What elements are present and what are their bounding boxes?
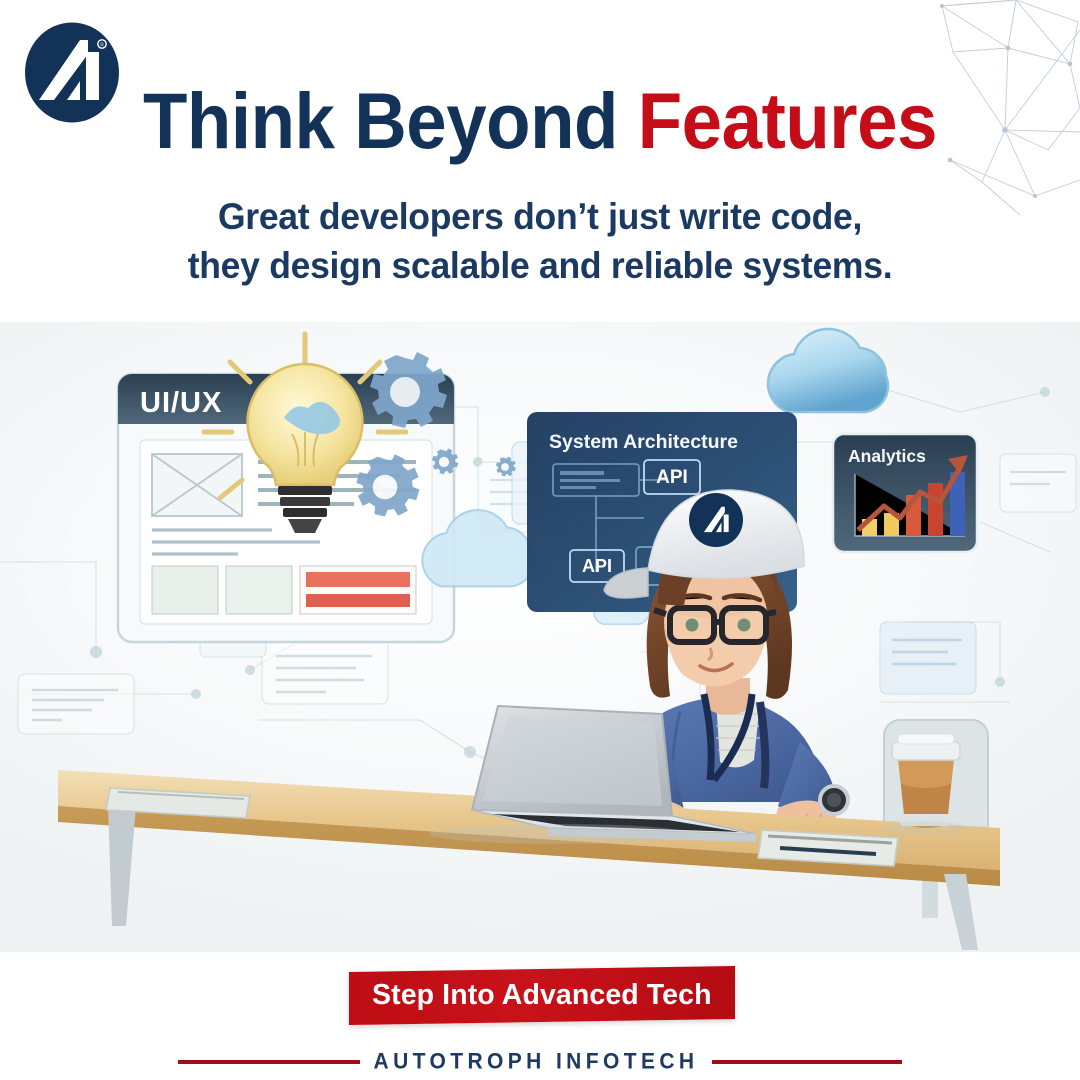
headline-accent: Features (638, 76, 937, 165)
footer-rule-left (178, 1060, 360, 1064)
svg-text:Analytics: Analytics (848, 446, 926, 466)
page-title: Think Beyond Features (43, 78, 1037, 164)
page-subtitle: Great developers don’t just write code, … (22, 192, 1059, 290)
subtitle-line-1: Great developers don’t just write code, (22, 192, 1059, 241)
svg-text:API: API (656, 467, 688, 488)
poster-header: R (0, 0, 1080, 322)
analytics-card: Analytics (833, 434, 977, 552)
svg-text:System Architecture: System Architecture (549, 431, 738, 453)
headline-primary: Think Beyond (143, 76, 638, 165)
footer-brandbar: AUTOTROPH INFOTECH (0, 1044, 1080, 1080)
svg-text:R: R (100, 43, 104, 49)
svg-text:UI/UX: UI/UX (140, 387, 222, 419)
svg-text:API: API (582, 556, 612, 576)
cta-button[interactable]: Step Into Advanced Tech (349, 966, 735, 1025)
subtitle-line-2: they design scalable and reliable system… (22, 241, 1059, 290)
poster-canvas: R (0, 0, 1080, 1080)
hero-illustration: UI/UX (0, 322, 1080, 952)
footer-rule-right (712, 1060, 902, 1064)
footer-brand-name: AUTOTROPH INFOTECH (374, 1049, 699, 1074)
cta-label: Step Into Advanced Tech (372, 979, 712, 1012)
